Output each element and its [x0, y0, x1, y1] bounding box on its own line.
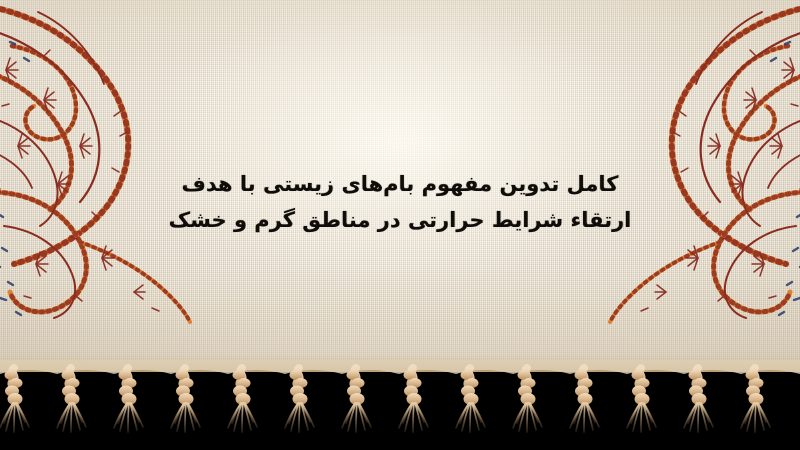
slide-canvas: کامل تدوین مفهوم بام‌های زیستی با هدف ار… — [0, 0, 800, 450]
title-line-1: کامل تدوین مفهوم بام‌های زیستی با هدف — [0, 166, 800, 202]
black-bottom-band — [0, 372, 800, 450]
slide-title: کامل تدوین مفهوم بام‌های زیستی با هدف ار… — [0, 166, 800, 238]
fabric-selvage-band — [0, 356, 800, 372]
title-line-2: ارتقاء شرایط حرارتی در مناطق گرم و خشک — [0, 202, 800, 238]
